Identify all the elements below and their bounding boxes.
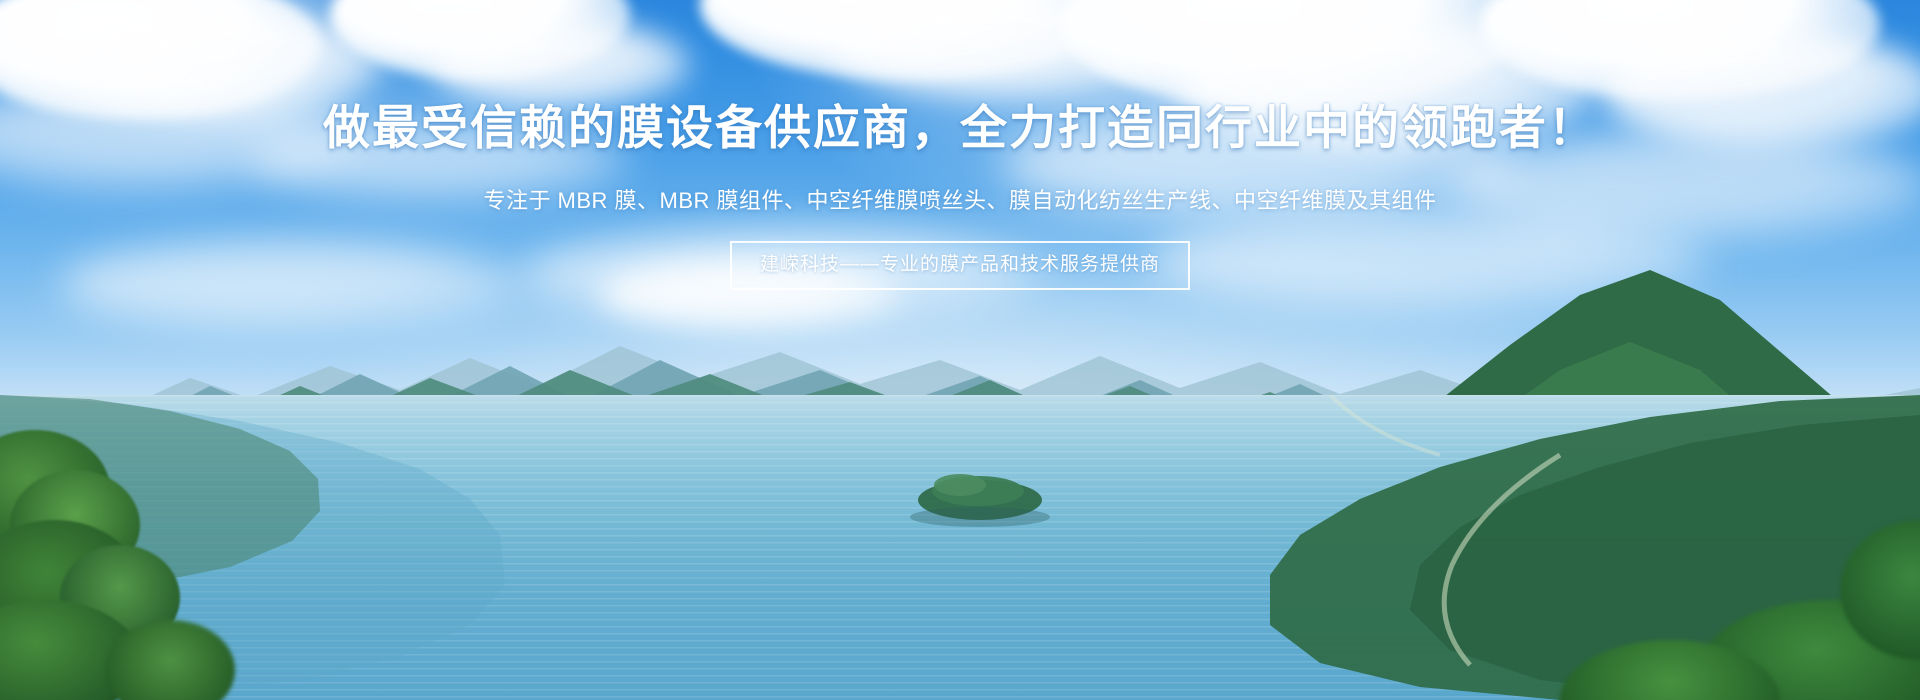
- banner-tagline-wrapper: 建嵘科技——专业的膜产品和技术服务提供商: [0, 241, 1920, 290]
- banner-tagline-box: 建嵘科技——专业的膜产品和技术服务提供商: [730, 241, 1190, 290]
- banner-headline: 做最受信赖的膜设备供应商，全力打造同行业中的领跑者！: [0, 100, 1920, 156]
- banner-subtitle: 专注于 MBR 膜、MBR 膜组件、中空纤维膜喷丝头、膜自动化纺丝生产线、中空纤…: [0, 186, 1920, 216]
- banner-text-overlay: 做最受信赖的膜设备供应商，全力打造同行业中的领跑者！ 专注于 MBR 膜、MBR…: [0, 0, 1920, 700]
- hero-banner: 做最受信赖的膜设备供应商，全力打造同行业中的领跑者！ 专注于 MBR 膜、MBR…: [0, 0, 1920, 700]
